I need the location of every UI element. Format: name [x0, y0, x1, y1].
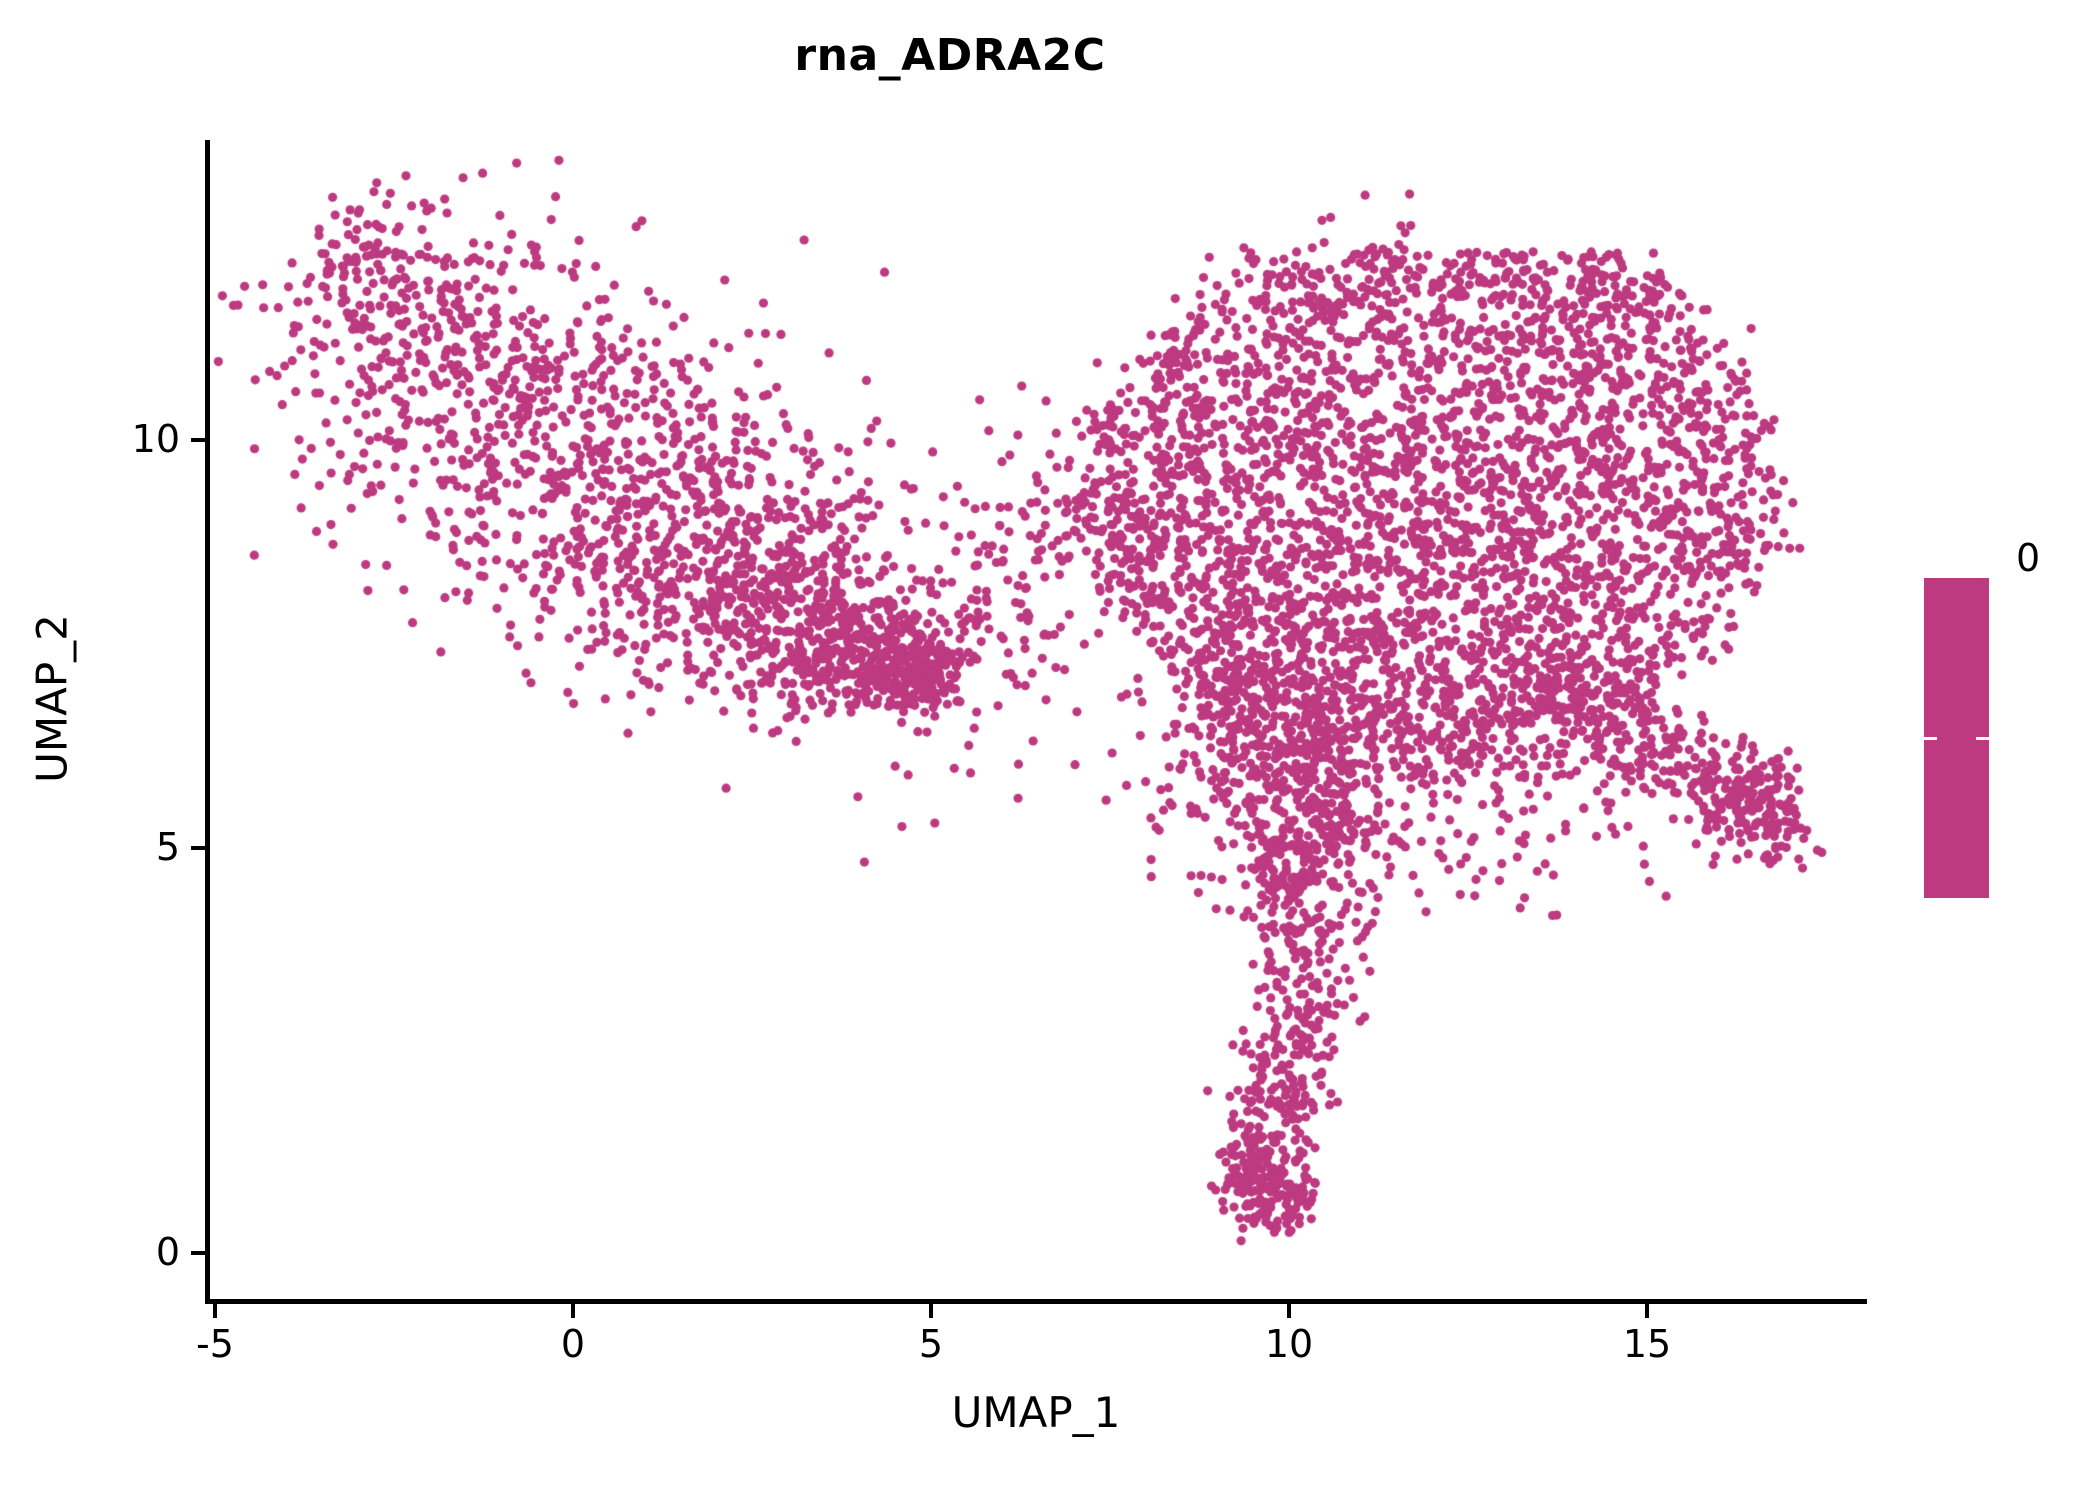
x-axis-spine [205, 1299, 1867, 1304]
x-tick-15 [1645, 1304, 1649, 1318]
x-axis-label: UMAP_1 [205, 1388, 1867, 1437]
y-tick-label-10: 10 [60, 417, 180, 461]
x-tick-label-5: 5 [851, 1322, 1011, 1366]
x-tick-label-15: 15 [1567, 1322, 1727, 1366]
chart-title: rna_ADRA2C [0, 30, 1900, 81]
colorbar-tick-right [1976, 737, 1989, 740]
y-axis-label: UMAP_2 [28, 349, 77, 1049]
y-tick-0 [191, 1251, 205, 1255]
y-axis-spine [205, 140, 210, 1304]
x-tick-label-0: 0 [493, 1322, 653, 1366]
plot-area [210, 140, 1867, 1302]
x-tick-5 [929, 1304, 933, 1318]
y-tick-label-0: 0 [60, 1230, 180, 1274]
colorbar-tick-left [1924, 737, 1937, 740]
colorbar [1924, 578, 1989, 898]
x-tick--5 [213, 1304, 217, 1318]
scatter-points [210, 140, 1867, 1302]
y-tick-5 [191, 846, 205, 850]
x-tick-label--5: -5 [135, 1322, 295, 1366]
x-tick-10 [1287, 1304, 1291, 1318]
figure: rna_ADRA2C 10 5 0 -5 0 5 10 15 UMAP_2 UM… [0, 0, 2100, 1500]
x-tick-label-10: 10 [1209, 1322, 1369, 1366]
y-tick-10 [191, 438, 205, 442]
colorbar-tick-label-0: 0 [2016, 536, 2040, 580]
y-tick-label-5: 5 [60, 825, 180, 869]
x-tick-0 [571, 1304, 575, 1318]
